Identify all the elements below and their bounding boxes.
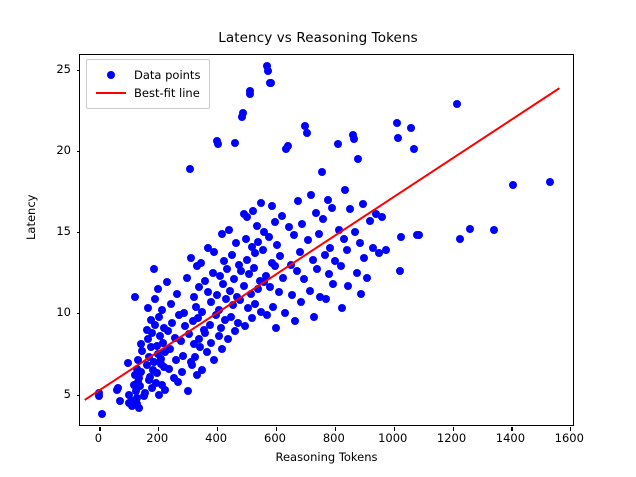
legend-item-best-fit-line: Best-fit line (94, 84, 200, 102)
x-tick-mark (276, 427, 277, 431)
chart-legend: Data points Best-fit line (86, 59, 210, 109)
x-tick-mark (158, 427, 159, 431)
legend-label: Best-fit line (128, 86, 200, 100)
x-tick-label: 0 (68, 431, 128, 445)
y-tick-label: 20 (33, 143, 71, 157)
legend-item-data-points: Data points (94, 66, 200, 84)
x-axis-label: Reasoning Tokens (79, 450, 574, 464)
y-tick-label: 5 (33, 387, 71, 401)
x-tick-mark (335, 427, 336, 431)
best-fit-line (80, 55, 573, 425)
x-tick-mark (99, 427, 100, 431)
matplotlib-figure: Latency vs Reasoning Tokens Latency Reas… (0, 0, 636, 477)
x-tick-mark (217, 427, 218, 431)
x-tick-label: 1000 (363, 431, 423, 445)
x-tick-label: 1600 (539, 431, 599, 445)
x-tick-mark (453, 427, 454, 431)
x-tick-label: 1400 (480, 431, 540, 445)
legend-label: Data points (128, 68, 200, 82)
x-tick-label: 200 (127, 431, 187, 445)
y-tick-label: 25 (33, 62, 71, 76)
x-tick-label: 800 (304, 431, 364, 445)
x-tick-label: 1200 (422, 431, 482, 445)
x-tick-mark (511, 427, 512, 431)
x-tick-label: 400 (186, 431, 246, 445)
x-tick-mark (394, 427, 395, 431)
y-tick-label: 10 (33, 305, 71, 319)
legend-marker-icon (94, 68, 128, 82)
x-tick-label: 600 (245, 431, 305, 445)
legend-line-icon (94, 86, 128, 100)
plot-axes: Data points Best-fit line (79, 54, 574, 426)
y-tick-label: 15 (33, 224, 71, 238)
x-tick-mark (570, 427, 571, 431)
page-title: Latency vs Reasoning Tokens (0, 30, 636, 46)
